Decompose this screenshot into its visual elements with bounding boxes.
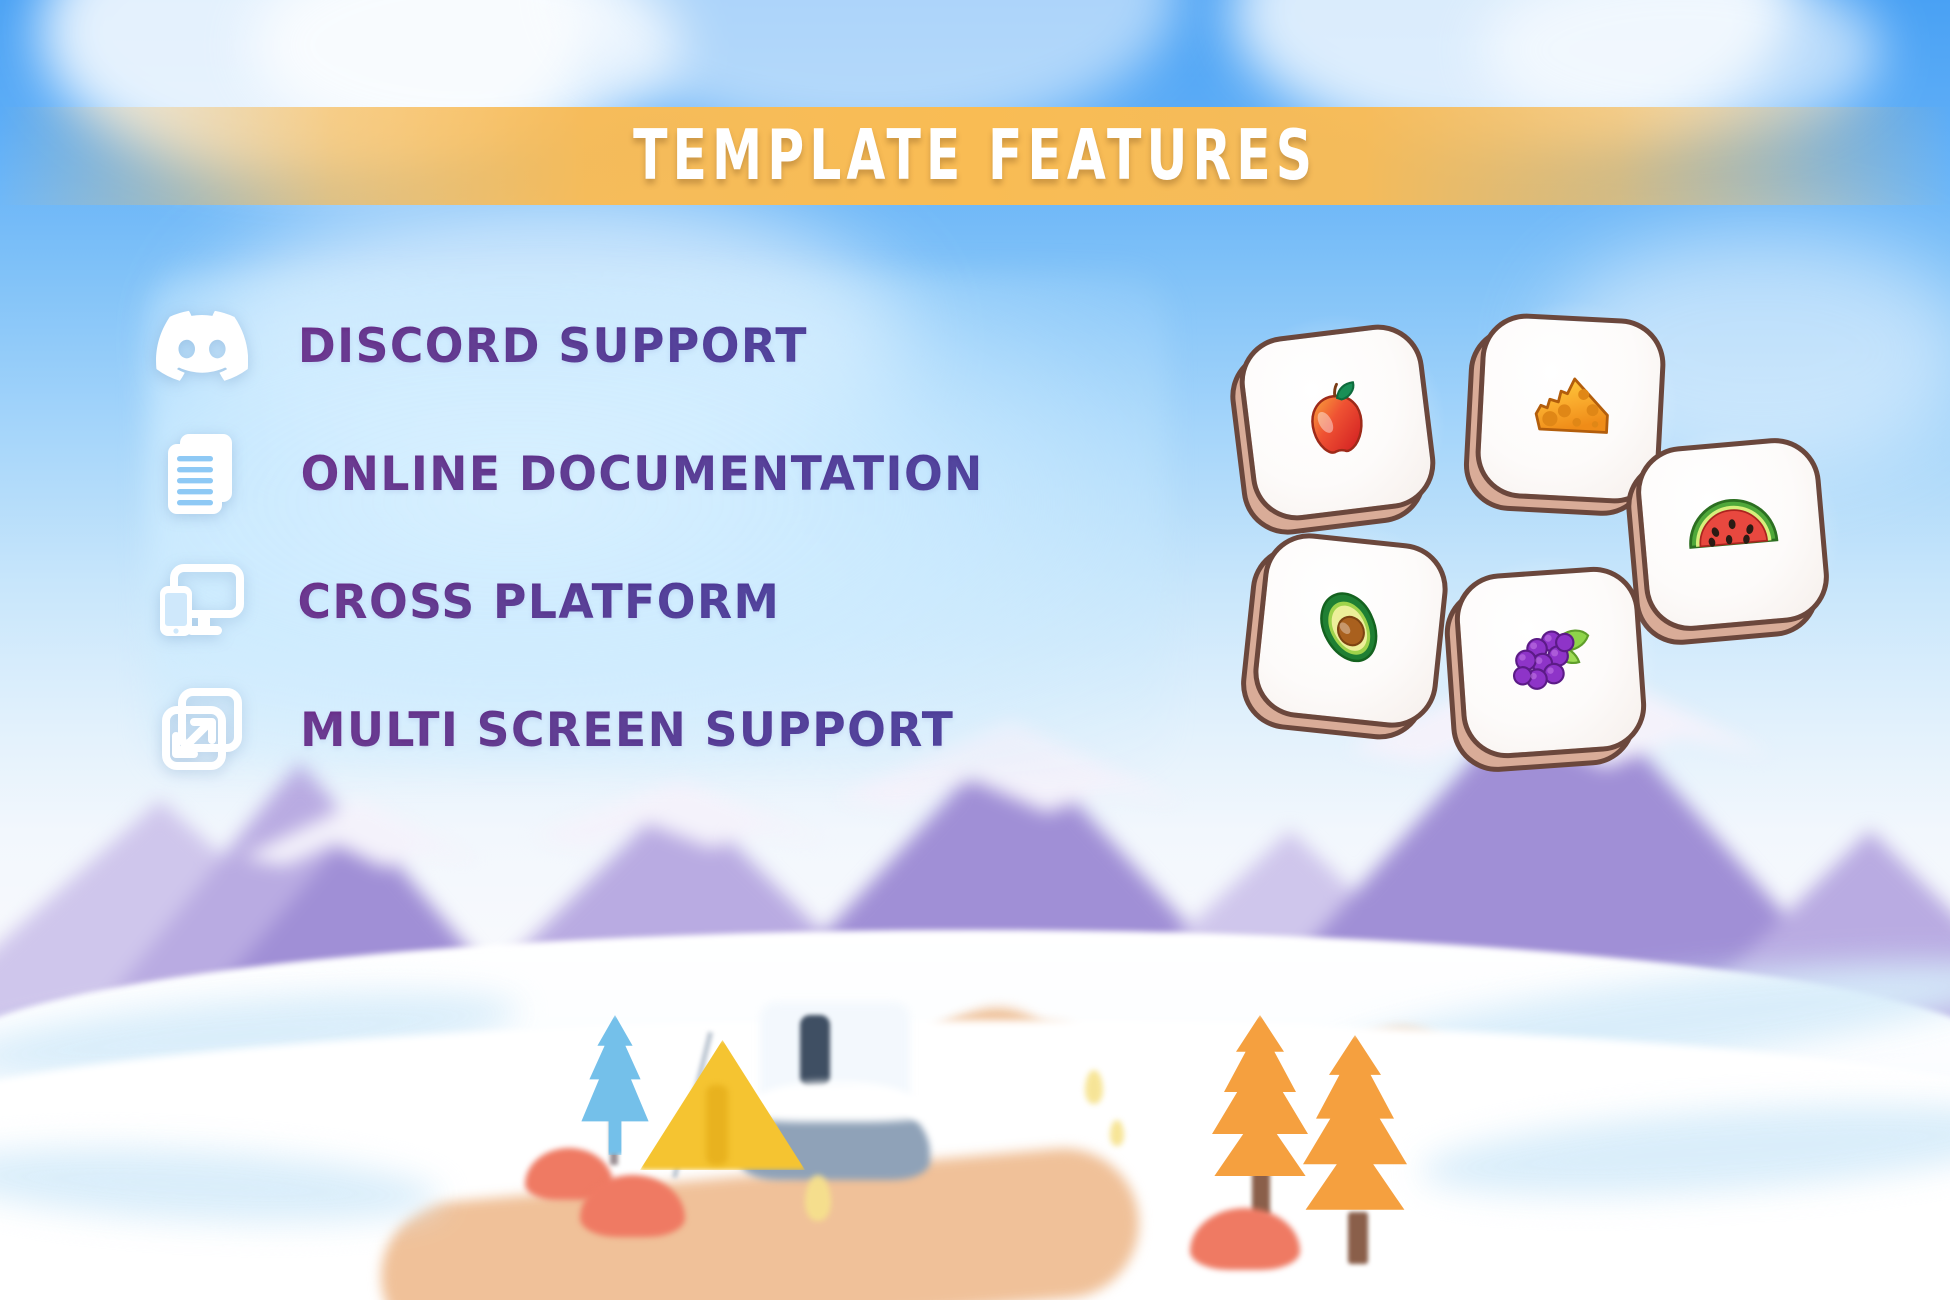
discord-icon — [150, 300, 254, 392]
page-title: TEMPLATE FEATURES — [633, 115, 1317, 196]
feature-label: MULTI SCREEN SUPPORT — [300, 703, 954, 758]
watermelon-tile[interactable] — [1632, 434, 1832, 634]
apple-icon — [1234, 319, 1440, 525]
cross-platform-icon — [150, 556, 254, 648]
feature-item-online-documentation: ONLINE DOCUMENTATION — [150, 428, 1250, 520]
snow-sparkle — [805, 1175, 831, 1221]
feature-item-cross-platform: CROSS PLATFORM — [150, 556, 1250, 648]
feature-item-discord-support: DISCORD SUPPORT — [150, 300, 1250, 392]
grapes-tile[interactable] — [1452, 564, 1649, 761]
avocado-icon — [1249, 529, 1452, 732]
title-banner: TEMPLATE FEATURES — [0, 107, 1950, 205]
feature-label: ONLINE DOCUMENTATION — [301, 447, 984, 502]
avocado-tile[interactable] — [1249, 529, 1452, 732]
apple-tile[interactable] — [1234, 319, 1440, 525]
document-icon — [150, 428, 254, 520]
feature-item-multi-screen-support: MULTI SCREEN SUPPORT — [150, 684, 1250, 776]
feature-label: CROSS PLATFORM — [297, 575, 780, 630]
tent-door — [706, 1085, 728, 1165]
watermelon-icon — [1632, 434, 1832, 634]
feature-list: DISCORD SUPPORT ONLINE DOCUMENTATION — [150, 300, 1250, 776]
tile-cluster — [1240, 330, 1890, 810]
promo-banner-scene: TEMPLATE FEATURES DISCORD SUPPORT — [0, 0, 1950, 1300]
snow-sparkle — [1110, 1120, 1124, 1146]
resize-screen-icon — [150, 684, 254, 776]
grapes-icon — [1452, 564, 1649, 761]
chimney — [800, 1015, 830, 1087]
tree-trunk — [1348, 1212, 1368, 1264]
feature-label: DISCORD SUPPORT — [298, 319, 808, 374]
snow-sparkle — [1085, 1070, 1103, 1104]
